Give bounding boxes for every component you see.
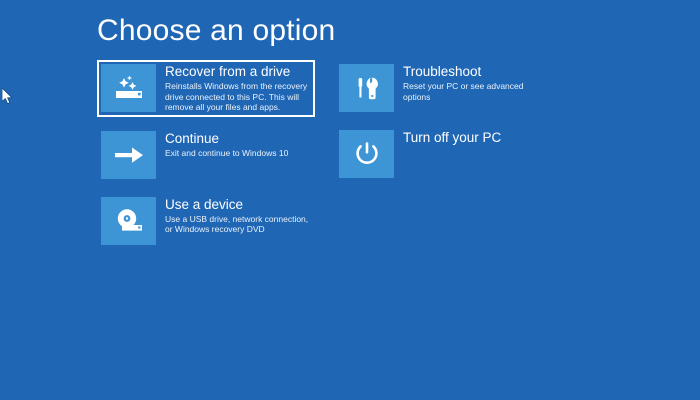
option-title: Recover from a drive bbox=[165, 64, 311, 80]
choose-an-option-screen: Choose an option Recover fr bbox=[0, 0, 700, 400]
tile-text: Continue Exit and continue to Windows 10 bbox=[156, 131, 311, 159]
option-tile-recover-from-a-drive[interactable]: Recover from a drive Reinstalls Windows … bbox=[97, 60, 315, 117]
mouse-pointer-icon bbox=[2, 88, 14, 106]
disc-device-icon bbox=[101, 197, 156, 245]
option-title: Turn off your PC bbox=[403, 130, 549, 146]
option-title: Troubleshoot bbox=[403, 64, 549, 80]
option-tile-troubleshoot[interactable]: Troubleshoot Reset your PC or see advanc… bbox=[335, 60, 553, 116]
tile-inner: Use a device Use a USB drive, network co… bbox=[101, 197, 311, 245]
tile-text: Use a device Use a USB drive, network co… bbox=[156, 197, 311, 235]
option-title: Continue bbox=[165, 131, 311, 147]
options-column-right: Troubleshoot Reset your PC or see advanc… bbox=[335, 60, 553, 192]
option-description: Exit and continue to Windows 10 bbox=[165, 148, 311, 159]
tile-text: Turn off your PC bbox=[394, 130, 549, 146]
page-title: Choose an option bbox=[97, 12, 335, 50]
power-icon bbox=[339, 130, 394, 178]
options-column-left: Recover from a drive Reinstalls Windows … bbox=[97, 60, 315, 259]
tile-inner: Continue Exit and continue to Windows 10 bbox=[101, 131, 311, 179]
tile-inner: Turn off your PC bbox=[339, 130, 549, 178]
tile-text: Troubleshoot Reset your PC or see advanc… bbox=[394, 64, 549, 102]
recovery-drive-icon bbox=[101, 64, 156, 112]
option-title: Use a device bbox=[165, 197, 311, 213]
option-description: Reset your PC or see advanced options bbox=[403, 81, 549, 102]
option-tile-continue[interactable]: Continue Exit and continue to Windows 10 bbox=[97, 127, 315, 183]
option-description: Reinstalls Windows from the recovery dri… bbox=[165, 81, 311, 113]
arrow-right-icon bbox=[101, 131, 156, 179]
tile-inner: Troubleshoot Reset your PC or see advanc… bbox=[339, 64, 549, 112]
tile-inner: Recover from a drive Reinstalls Windows … bbox=[101, 64, 311, 113]
option-tile-use-a-device[interactable]: Use a device Use a USB drive, network co… bbox=[97, 193, 315, 249]
screwdriver-wrench-icon bbox=[339, 64, 394, 112]
tile-text: Recover from a drive Reinstalls Windows … bbox=[156, 64, 311, 113]
option-tile-turn-off-your-pc[interactable]: Turn off your PC bbox=[335, 126, 553, 182]
option-description: Use a USB drive, network connection, or … bbox=[165, 214, 311, 235]
